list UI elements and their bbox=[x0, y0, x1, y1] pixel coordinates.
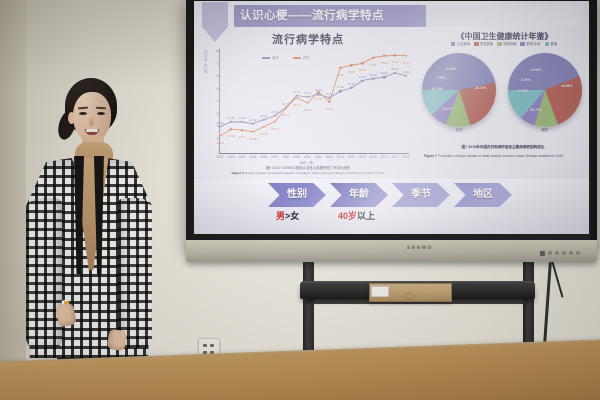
line-point-label: 76.04 bbox=[380, 61, 387, 65]
pie-legend-item: 心血管病 bbox=[451, 41, 470, 46]
pie-urban-label: 城市 bbox=[508, 128, 582, 133]
line-point-label: 23.42 bbox=[271, 127, 278, 131]
pie-legend-swatch bbox=[545, 42, 550, 47]
pie-chart-urban: 44.26%25.73%10.36%6.74%13.91% 城市 bbox=[508, 53, 588, 141]
display-control-buttons[interactable] bbox=[540, 250, 590, 256]
line-series-0 bbox=[220, 73, 406, 127]
box-shipping-label bbox=[371, 286, 389, 297]
slide-title: 认识心梗——流行病学特点 bbox=[240, 8, 430, 26]
photo-scene: 认识心梗——流行病学特点 《中国卫生健康统计年鉴》 流行病学特点 死亡率（1/1… bbox=[0, 0, 600, 400]
chevron-step-0: 性别 bbox=[268, 183, 326, 207]
line-point-label: 34.12 bbox=[282, 113, 289, 117]
pie-legend-label: 呼吸系病 bbox=[503, 42, 516, 46]
presenter-eye-right bbox=[97, 112, 105, 115]
line-chart-figure-number: Figure 6 bbox=[232, 171, 244, 175]
pie-slice-label: 44.26% bbox=[561, 84, 573, 88]
pie-legend-swatch bbox=[497, 42, 502, 47]
pie-caption-en-text: Proportion of major causes of death amon… bbox=[438, 154, 564, 158]
line-point-label: 70.09 bbox=[359, 68, 366, 72]
line-point-label: 16.71 bbox=[238, 135, 245, 139]
pie-legend-label: 恶性肿瘤 bbox=[480, 42, 493, 46]
line-point-label: 21.92 bbox=[249, 118, 256, 122]
chevron-steps: 性别年龄季节地区 bbox=[268, 183, 512, 207]
line-chart-svg bbox=[220, 51, 406, 151]
line-point-label: 76.47 bbox=[391, 60, 398, 64]
y-tick: 50 bbox=[208, 87, 220, 91]
pie-chart-group: 心血管病恶性肿瘤呼吸系病损伤/中毒其他 46.74%23.27%10.79%7.… bbox=[418, 41, 588, 179]
pie-legend-label: 损伤/中毒 bbox=[526, 42, 540, 46]
pie-slice-label: 25.73% bbox=[530, 108, 542, 112]
y-tick: 0 bbox=[208, 149, 220, 153]
pie-legend-item: 损伤/中毒 bbox=[520, 41, 540, 46]
pie-slice-label: 7.39% bbox=[436, 76, 446, 80]
pie-slice-label: 6.74% bbox=[521, 78, 531, 82]
chevron-note-0: 男>女 bbox=[276, 209, 299, 223]
pie-urban-graphic: 44.26%25.73%10.36%6.74%13.91% bbox=[508, 53, 582, 127]
y-tick: 20 bbox=[208, 124, 220, 128]
line-point-label: 50.32 bbox=[348, 82, 355, 86]
pie-rural-graphic: 46.74%23.27%10.79%7.39%11.81% bbox=[422, 53, 496, 127]
line-chart-plot-area: 19.4623.3623.1921.9225.0228.1034.7244.35… bbox=[220, 51, 406, 151]
line-chart: 流行病学特点 死亡率（1/10万） 城市农村 19.4623.3623.1921… bbox=[202, 29, 414, 179]
display-lower-bezel bbox=[186, 240, 597, 262]
chevron-note-1: 40岁以上 bbox=[338, 209, 375, 223]
chevron-step-3: 地区 bbox=[454, 183, 512, 207]
chevron-step-2: 季节 bbox=[392, 183, 450, 207]
line-point-label: 60.20 bbox=[402, 70, 409, 74]
line-point-label: 44.35 bbox=[293, 90, 300, 94]
interactive-display[interactable]: 认识心梗——流行病学特点 《中国卫生健康统计年鉴》 流行病学特点 死亡率（1/1… bbox=[186, 0, 597, 246]
pie-slice-label: 46.74% bbox=[475, 86, 487, 90]
pie-legend-label: 其他 bbox=[551, 42, 558, 46]
pie-legend-item: 其他 bbox=[545, 41, 558, 46]
line-chart-x-axis bbox=[219, 153, 409, 154]
display-button-5[interactable] bbox=[576, 251, 580, 255]
pie-rural-label: 农村 bbox=[422, 128, 496, 133]
line-point-label: 59.06 bbox=[380, 71, 387, 75]
line-point-label: 12.00 bbox=[216, 141, 223, 145]
pie-legend-swatch bbox=[451, 42, 456, 47]
presenter-arm-left bbox=[26, 198, 62, 348]
display-brand-logo: seewo bbox=[395, 245, 445, 255]
line-point-label: 58.00 bbox=[370, 73, 377, 77]
pie-slice-label: 13.91% bbox=[530, 68, 542, 72]
display-screen[interactable]: 认识心梗——流行病学特点 《中国卫生健康统计年鉴》 流行病学特点 死亡率（1/1… bbox=[194, 1, 589, 234]
chevron-note-rest: >女 bbox=[285, 211, 299, 221]
pie-slice-label: 10.36% bbox=[517, 89, 529, 93]
line-point-label: 23.36 bbox=[227, 116, 234, 120]
line-chart-caption-en: Figure 6 Trends of acute myocardial infa… bbox=[202, 171, 414, 175]
y-tick: 70 bbox=[208, 62, 220, 66]
chevron-step-1: 年龄 bbox=[330, 183, 388, 207]
chevron-note-rest: 以上 bbox=[357, 211, 375, 221]
presentation-slide: 认识心梗——流行病学特点 《中国卫生健康统计年鉴》 流行病学特点 死亡率（1/1… bbox=[194, 1, 589, 234]
chevron-note-emphasis: 男 bbox=[276, 211, 285, 221]
line-chart-caption-en-text: Trends of acute myocardial infarction mo… bbox=[244, 171, 384, 175]
line-point-label: 28.10 bbox=[271, 110, 278, 114]
chevron-notes: 男>女40岁以上 bbox=[268, 209, 588, 227]
line-point-label: 34.72 bbox=[282, 102, 289, 106]
pie-chart-rural: 46.74%23.27%10.79%7.39%11.81% 农村 bbox=[422, 53, 502, 141]
line-point-label: 62.39 bbox=[391, 67, 398, 71]
line-chart-caption-cn: 图6 2002~2019年中国城乡急性心肌梗死死亡率变化趋势 bbox=[202, 165, 414, 170]
line-point-label: 68.60 bbox=[348, 70, 355, 74]
line-point-label: 23.19 bbox=[238, 116, 245, 120]
display-power-button[interactable] bbox=[540, 251, 545, 256]
presenter bbox=[18, 78, 158, 400]
presenter-nose bbox=[89, 117, 94, 126]
pie-caption-en: Figure 7 Proportion of major causes of d… bbox=[424, 153, 588, 159]
line-point-label: 39.32 bbox=[326, 107, 333, 111]
pie-chart-legend: 心血管病恶性肿瘤呼吸系病损伤/中毒其他 bbox=[420, 41, 588, 46]
pie-figure-number: Figure 7 bbox=[424, 154, 437, 158]
y-tick: 10 bbox=[208, 137, 220, 141]
y-tick: 60 bbox=[208, 74, 220, 78]
line-point-label: 42.52 bbox=[326, 92, 333, 96]
line-point-label: 76.24 bbox=[402, 61, 409, 65]
line-point-label: 47.85 bbox=[337, 85, 344, 89]
pie-legend-label: 心血管病 bbox=[457, 42, 470, 46]
line-chart-heading: 流行病学特点 bbox=[202, 31, 414, 47]
box-seal-icon bbox=[404, 293, 415, 300]
pie-legend-swatch bbox=[520, 42, 525, 47]
y-tick: 80 bbox=[208, 49, 220, 53]
pie-legend-item: 呼吸系病 bbox=[497, 41, 516, 46]
line-point-label: 42.74 bbox=[293, 103, 300, 107]
line-point-label: 74.72 bbox=[370, 63, 377, 67]
pie-legend-swatch bbox=[474, 42, 479, 47]
line-point-label: 17.38 bbox=[227, 134, 234, 138]
line-point-label: 19.40 bbox=[260, 132, 267, 136]
display-button-4[interactable] bbox=[569, 251, 573, 255]
line-point-label: 66.62 bbox=[337, 73, 344, 77]
line-point-label: 43.19 bbox=[304, 91, 311, 95]
line-point-label: 38.39 bbox=[304, 108, 311, 112]
display-button-2[interactable] bbox=[555, 251, 559, 255]
y-tick: 40 bbox=[208, 99, 220, 103]
display-button-3[interactable] bbox=[562, 251, 566, 255]
slide-title-band-light bbox=[426, 5, 581, 27]
display-button-1[interactable] bbox=[548, 251, 552, 255]
pie-caption-cn: 图7 2019年中国农村和城市居民主要疾病死因构成比 bbox=[418, 145, 588, 150]
presenter-arm-right bbox=[118, 198, 152, 348]
pie-legend-item: 恶性肿瘤 bbox=[474, 41, 493, 46]
chevron-note-emphasis: 40岁 bbox=[338, 211, 357, 221]
risk-factor-banner: 性别年龄季节地区 男>女40岁以上 bbox=[194, 179, 589, 234]
line-point-label: 15.38 bbox=[249, 137, 256, 141]
line-point-label: 47.36 bbox=[315, 97, 322, 101]
y-tick: 30 bbox=[208, 112, 220, 116]
x-tick: 2019 bbox=[399, 155, 413, 159]
line-point-label: 56.34 bbox=[359, 75, 366, 79]
presenter-teeth bbox=[86, 129, 98, 132]
pie-slice-label: 23.27% bbox=[442, 107, 454, 111]
presenter-eye-left bbox=[79, 112, 87, 115]
pie-slice-label: 10.79% bbox=[431, 87, 443, 91]
pie-slice-label: 11.81% bbox=[445, 67, 456, 71]
line-point-label: 25.02 bbox=[260, 114, 267, 118]
